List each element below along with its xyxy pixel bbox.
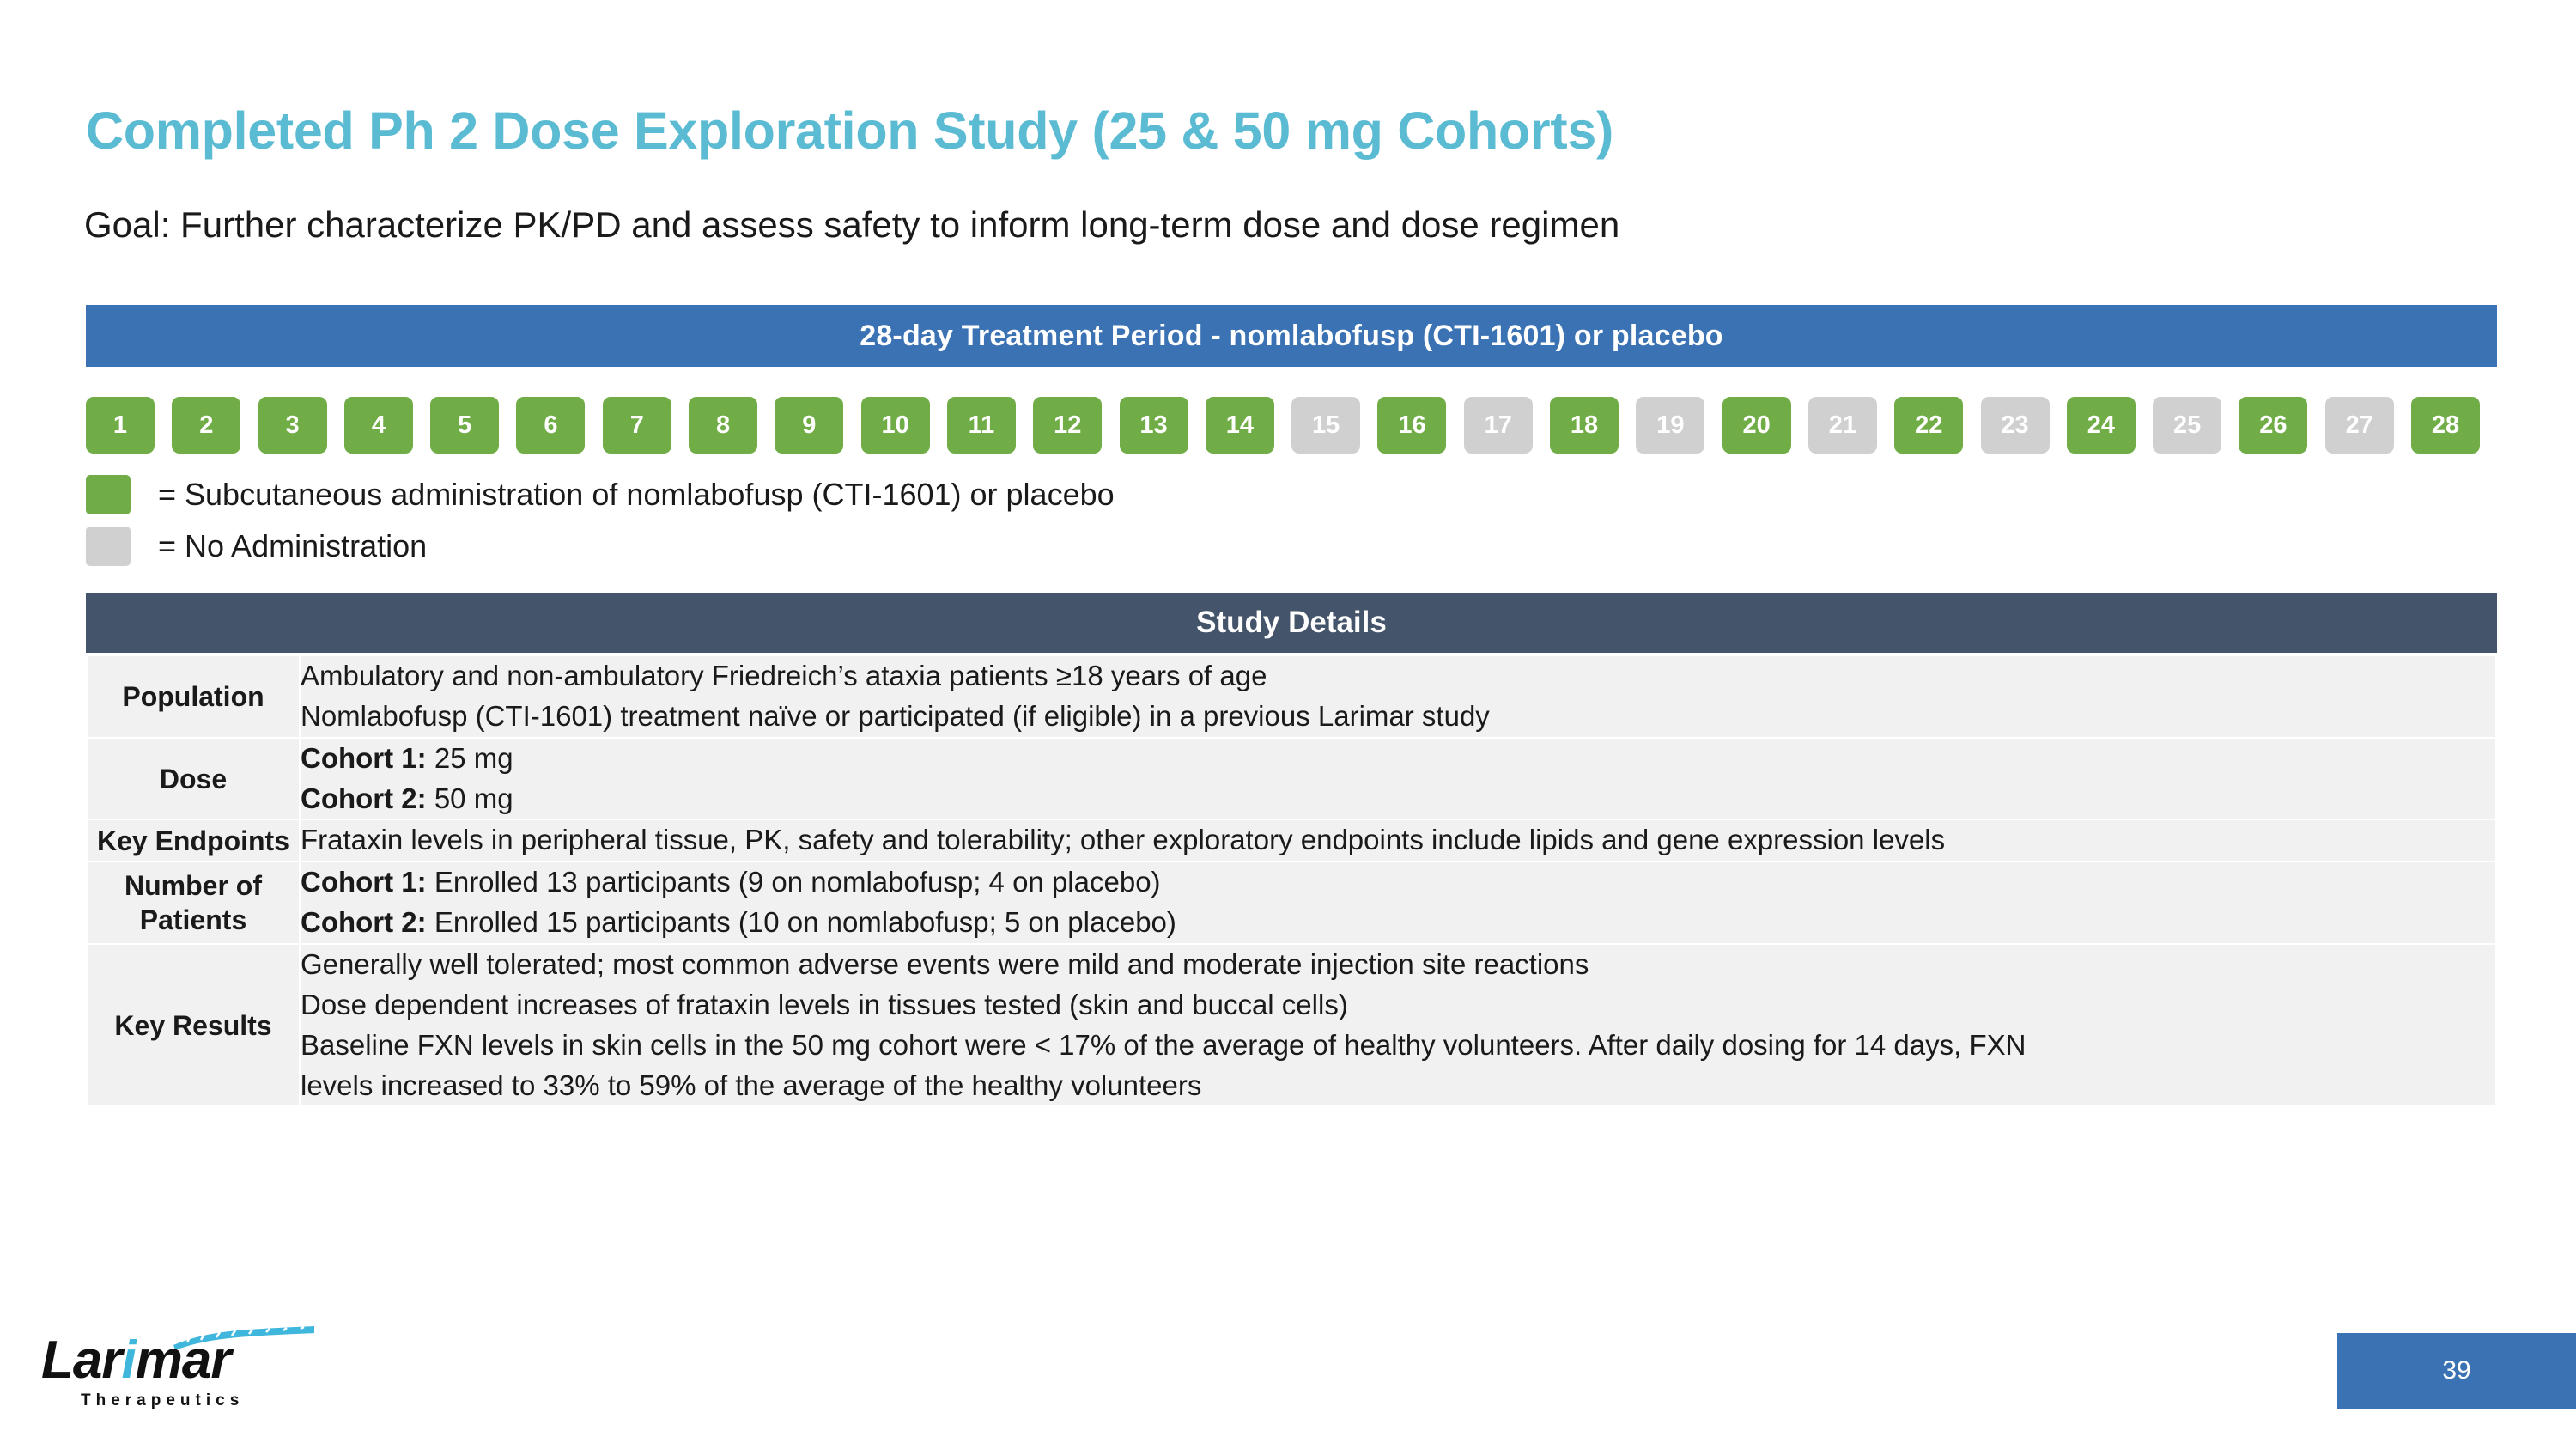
row-content-line-text: Dose dependent increases of frataxin lev… — [301, 989, 1348, 1020]
day-block-27: 27 — [2325, 397, 2394, 454]
row-content-line-text: 25 mg — [427, 742, 513, 774]
logo-wordmark: Larimar — [41, 1330, 230, 1391]
day-block-12: 12 — [1033, 397, 1102, 454]
slide-subtitle: Goal: Further characterize PK/PD and ass… — [84, 204, 2445, 247]
table-row: Key ResultsGenerally well tolerated; mos… — [87, 944, 2496, 1106]
table-row: PopulationAmbulatory and non-ambulatory … — [87, 655, 2496, 738]
day-block-22: 22 — [1894, 397, 1963, 454]
row-content-line-bold: Cohort 1: — [301, 866, 427, 898]
day-block-25: 25 — [2153, 397, 2221, 454]
row-content-line-text: Baseline FXN levels in skin cells in the… — [301, 1029, 2026, 1061]
day-block-14: 14 — [1206, 397, 1274, 454]
day-block-1: 1 — [86, 397, 155, 454]
day-block-18: 18 — [1550, 397, 1619, 454]
logo-tagline: Therapeutics — [81, 1391, 244, 1410]
study-details-header: Study Details — [86, 593, 2497, 653]
page-number: 39 — [2337, 1333, 2576, 1409]
logo-word-after: mar — [136, 1330, 231, 1390]
day-block-11: 11 — [947, 397, 1016, 454]
row-content-line-text: Ambulatory and non-ambulatory Friedreich… — [301, 660, 1267, 691]
legend-label-dosed: = Subcutaneous administration of nomlabo… — [158, 477, 1115, 513]
logo-word-accent: i — [121, 1330, 135, 1390]
row-label: Dose — [87, 738, 300, 820]
row-content-line-text: Nomlabofusp (CTI-1601) treatment naïve o… — [301, 700, 1490, 732]
row-content: Cohort 1: Enrolled 13 participants (9 on… — [300, 861, 2496, 944]
green-swatch-icon — [86, 475, 131, 514]
logo-word-before: Lar — [41, 1330, 121, 1390]
day-block-17: 17 — [1464, 397, 1533, 454]
table-row: Number of PatientsCohort 1: Enrolled 13 … — [87, 861, 2496, 944]
gray-swatch-icon — [86, 527, 131, 566]
legend: = Subcutaneous administration of nomlabo… — [86, 471, 2147, 574]
row-content-line-text: Frataxin levels in peripheral tissue, PK… — [301, 824, 1945, 855]
row-content-line: levels increased to 33% to 59% of the av… — [301, 1066, 2495, 1106]
treatment-day-blocks: 1234567891011121314151617181920212223242… — [86, 397, 2500, 454]
day-block-24: 24 — [2067, 397, 2136, 454]
day-block-6: 6 — [516, 397, 585, 454]
page-title: Completed Ph 2 Dose Exploration Study (2… — [86, 103, 2404, 158]
day-block-7: 7 — [603, 397, 671, 454]
row-content-line: Nomlabofusp (CTI-1601) treatment naïve o… — [301, 697, 2495, 737]
row-label: Key Results — [87, 944, 300, 1106]
row-content-line: Cohort 1: Enrolled 13 participants (9 on… — [301, 862, 2495, 903]
row-content-line: Cohort 2: Enrolled 15 participants (10 o… — [301, 903, 2495, 943]
day-block-13: 13 — [1120, 397, 1188, 454]
day-block-4: 4 — [344, 397, 413, 454]
legend-row-dosed: = Subcutaneous administration of nomlabo… — [86, 471, 2147, 519]
day-block-10: 10 — [861, 397, 930, 454]
row-content-line: Dose dependent increases of frataxin lev… — [301, 985, 2495, 1026]
day-block-28: 28 — [2411, 397, 2480, 454]
day-block-5: 5 — [430, 397, 499, 454]
row-label: Key Endpoints — [87, 819, 300, 861]
row-label: Population — [87, 655, 300, 738]
legend-row-no-administration: = No Administration — [86, 522, 2147, 570]
day-block-20: 20 — [1722, 397, 1791, 454]
day-block-2: 2 — [172, 397, 240, 454]
row-content-line: Generally well tolerated; most common ad… — [301, 945, 2495, 985]
day-block-26: 26 — [2239, 397, 2307, 454]
larimar-logo: Larimar Therapeutics — [41, 1330, 316, 1424]
slide-canvas: Completed Ph 2 Dose Exploration Study (2… — [0, 0, 2576, 1449]
row-content-line-text: Enrolled 15 participants (10 on nomlabof… — [427, 906, 1176, 938]
row-label: Number of Patients — [87, 861, 300, 944]
day-block-8: 8 — [689, 397, 757, 454]
day-block-19: 19 — [1636, 397, 1704, 454]
day-block-23: 23 — [1981, 397, 2050, 454]
day-block-15: 15 — [1291, 397, 1360, 454]
day-block-21: 21 — [1808, 397, 1877, 454]
row-content-line-text: Generally well tolerated; most common ad… — [301, 948, 1589, 980]
row-content: Generally well tolerated; most common ad… — [300, 944, 2496, 1106]
row-content: Ambulatory and non-ambulatory Friedreich… — [300, 655, 2496, 738]
treatment-period-header: 28-day Treatment Period - nomlabofusp (C… — [86, 305, 2497, 367]
row-content-line-bold: Cohort 2: — [301, 906, 427, 938]
row-content-line-bold: Cohort 1: — [301, 742, 427, 774]
legend-label-no-administration: = No Administration — [158, 528, 427, 564]
row-content: Cohort 1: 25 mgCohort 2: 50 mg — [300, 738, 2496, 820]
table-row: DoseCohort 1: 25 mgCohort 2: 50 mg — [87, 738, 2496, 820]
day-block-9: 9 — [775, 397, 843, 454]
row-content-line-bold: Cohort 2: — [301, 782, 427, 814]
day-block-3: 3 — [258, 397, 327, 454]
row-content-line: Cohort 2: 50 mg — [301, 779, 2495, 819]
day-block-16: 16 — [1377, 397, 1446, 454]
row-content: Frataxin levels in peripheral tissue, PK… — [300, 819, 2496, 861]
table-row: Key EndpointsFrataxin levels in peripher… — [87, 819, 2496, 861]
row-content-line-text: 50 mg — [427, 782, 513, 814]
row-content-line: Ambulatory and non-ambulatory Friedreich… — [301, 656, 2495, 697]
study-details-table: PopulationAmbulatory and non-ambulatory … — [86, 654, 2497, 1107]
row-content-line: Baseline FXN levels in skin cells in the… — [301, 1026, 2495, 1066]
row-content-line-text: levels increased to 33% to 59% of the av… — [301, 1069, 1201, 1101]
row-content-line-text: Enrolled 13 participants (9 on nomlabofu… — [427, 866, 1161, 898]
row-content-line: Cohort 1: 25 mg — [301, 739, 2495, 779]
row-content-line: Frataxin levels in peripheral tissue, PK… — [301, 820, 2495, 861]
